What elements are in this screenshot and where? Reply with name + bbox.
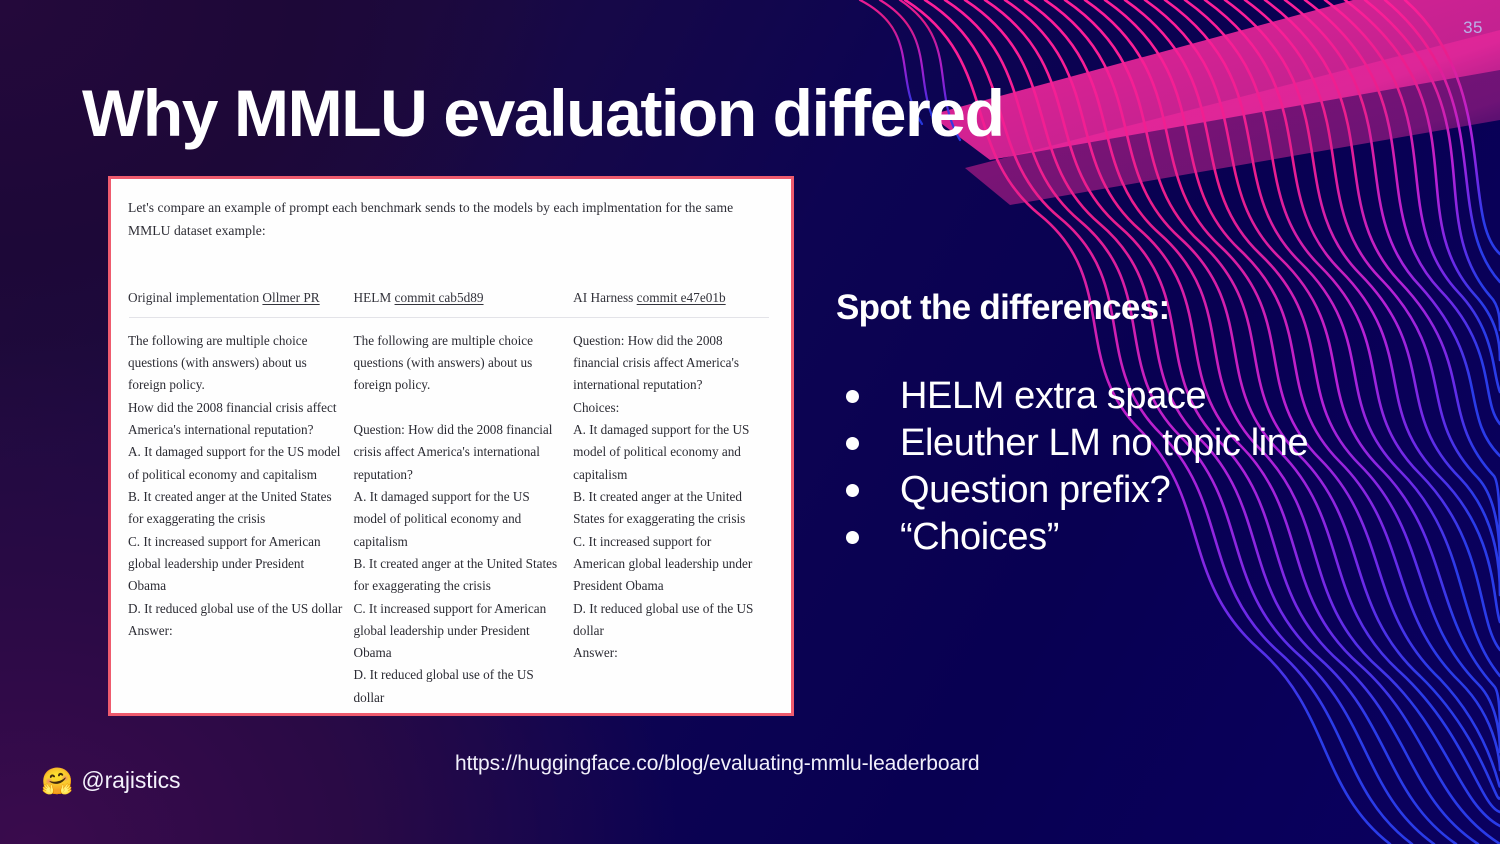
source-url[interactable]: https://huggingface.co/blog/evaluating-m… [455, 752, 980, 776]
bullet-dot-icon [846, 531, 859, 544]
list-item: Question prefix? [846, 469, 1308, 516]
card-intro-text: Let's compare an example of prompt each … [128, 196, 771, 243]
prompt-original: The following are multiple choice questi… [128, 330, 354, 716]
column-header-ai-harness: AI Harness commit e47e01b [573, 290, 771, 306]
comparison-card: Let's compare an example of prompt each … [108, 176, 794, 716]
list-item: Eleuther LM no topic line [846, 422, 1308, 469]
slide-canvas: 35 Why MMLU evaluation differed Let's co… [0, 0, 1500, 844]
bullet-dot-icon [846, 484, 859, 497]
page-number: 35 [1463, 18, 1483, 38]
column-header-label: HELM [354, 290, 392, 305]
column-header-label: AI Harness [573, 290, 633, 305]
list-item-label: HELM extra space [900, 375, 1206, 418]
prompt-ai-harness: Question: How did the 2008 financial cri… [573, 330, 771, 716]
column-header-helm: HELM commit cab5d89 [354, 290, 574, 306]
page-title: Why MMLU evaluation differed [82, 80, 1004, 146]
list-item-label: Eleuther LM no topic line [900, 422, 1308, 465]
author-handle: @rajistics [81, 767, 180, 794]
list-item: “Choices” [846, 516, 1308, 563]
column-header-label: Original implementation [128, 290, 259, 305]
column-headers: Original implementation Ollmer PR HELM c… [128, 290, 771, 306]
column-header-link[interactable]: Ollmer PR [262, 290, 319, 305]
author-credit: 🤗 @rajistics [41, 767, 180, 794]
bullet-dot-icon [846, 437, 859, 450]
spot-differences-heading: Spot the differences: [836, 288, 1169, 328]
list-item-label: “Choices” [900, 516, 1059, 559]
bullet-dot-icon [846, 390, 859, 403]
prompt-helm: The following are multiple choice questi… [354, 330, 574, 716]
differences-list: HELM extra space Eleuther LM no topic li… [846, 375, 1308, 563]
list-item: HELM extra space [846, 375, 1308, 422]
list-item-label: Question prefix? [900, 469, 1170, 512]
column-header-link[interactable]: commit e47e01b [637, 290, 726, 305]
column-header-link[interactable]: commit cab5d89 [395, 290, 484, 305]
header-divider [129, 317, 769, 318]
hugging-face-icon: 🤗 [41, 768, 73, 794]
column-header-original: Original implementation Ollmer PR [128, 290, 354, 306]
column-bodies: The following are multiple choice questi… [128, 330, 771, 716]
